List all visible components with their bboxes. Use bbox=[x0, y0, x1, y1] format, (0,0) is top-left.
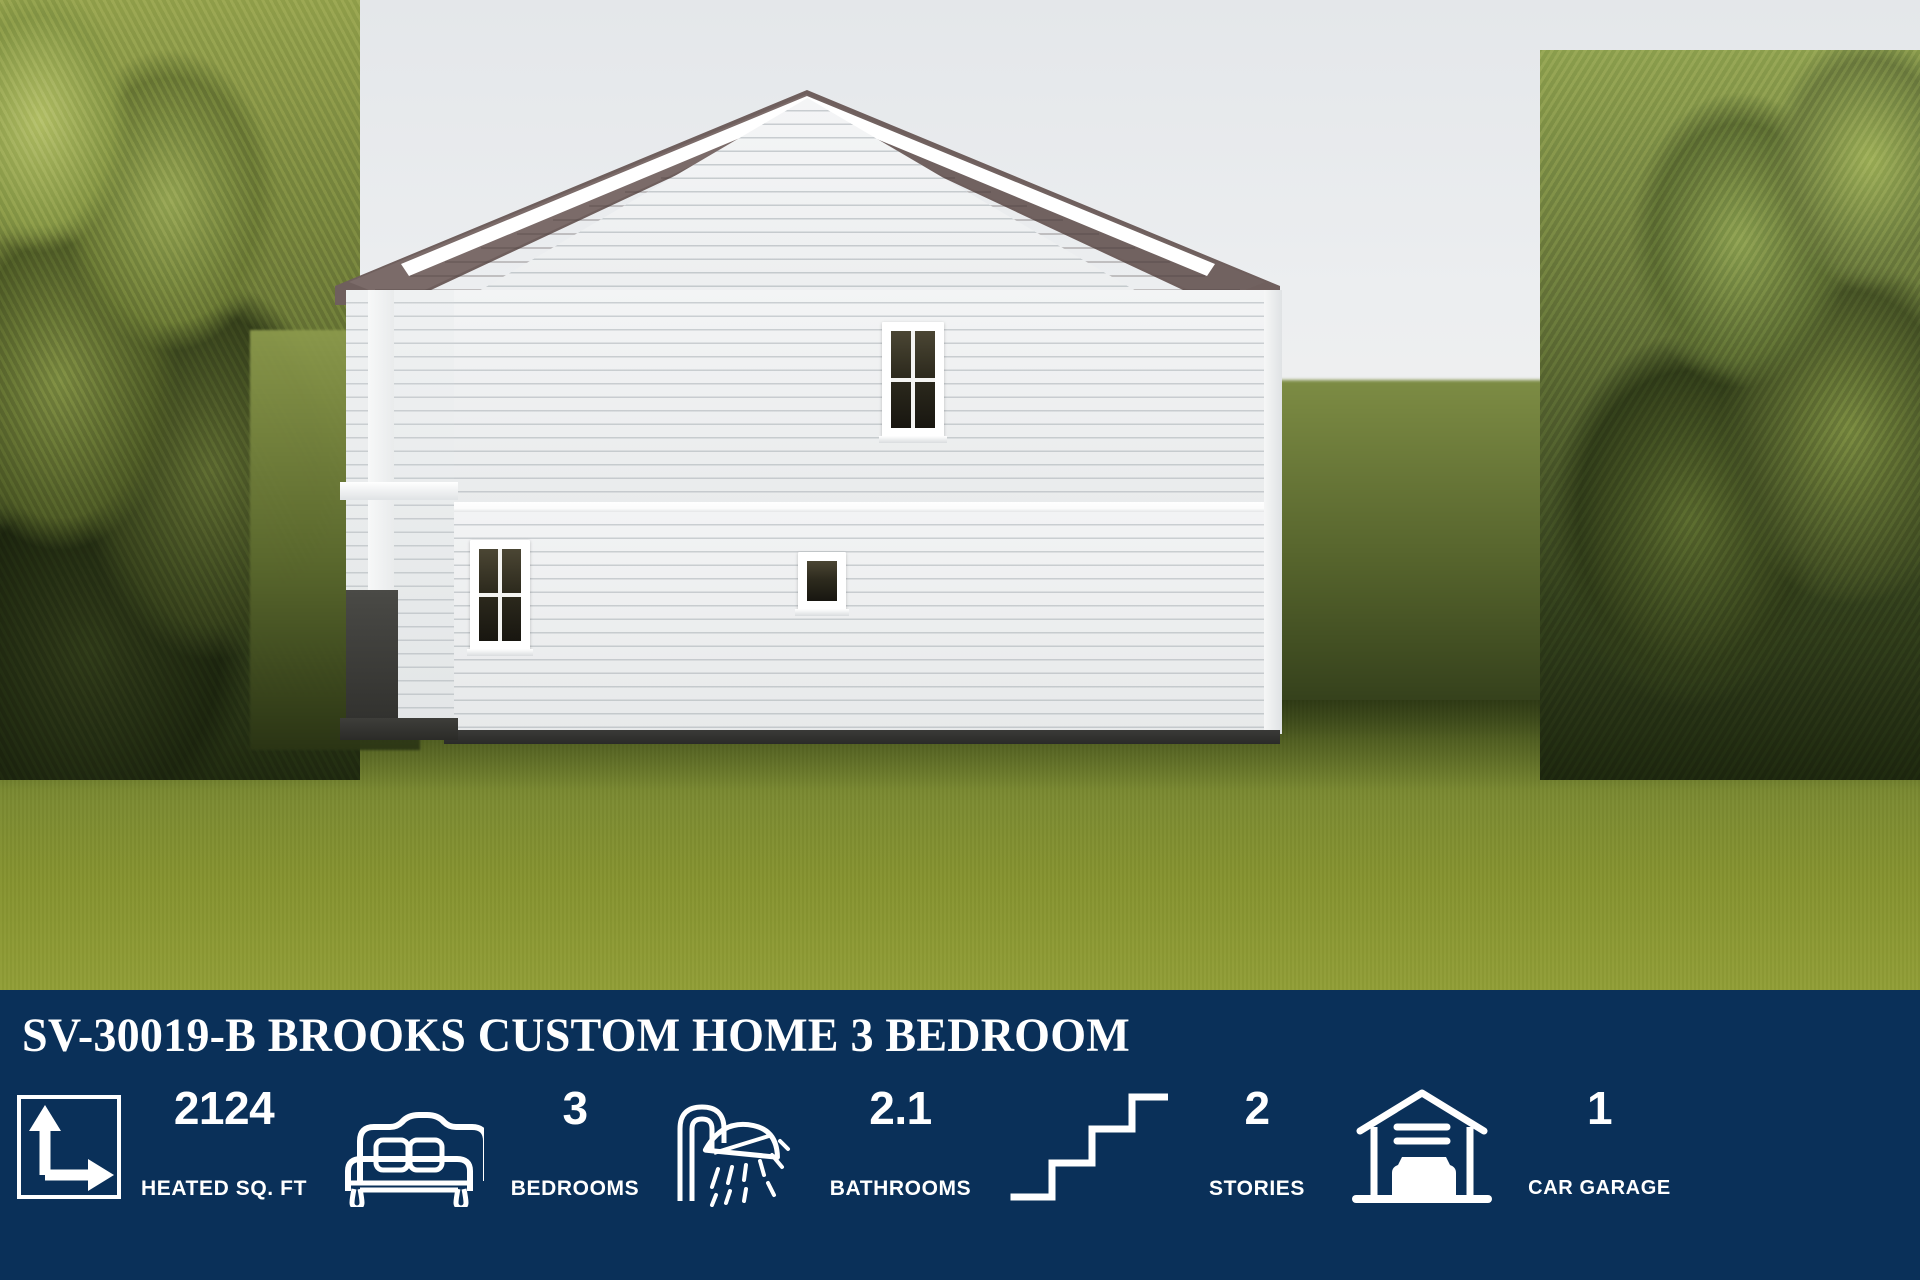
stat-value: 2.1 bbox=[869, 1085, 931, 1131]
stat-value: 1 bbox=[1587, 1085, 1612, 1131]
tree-right bbox=[1540, 50, 1920, 780]
stat-bathrooms-text: 2.1 BATHROOMS bbox=[793, 1085, 1008, 1201]
area-square-arrows-icon bbox=[14, 1085, 124, 1207]
lower-storey-wall bbox=[444, 512, 1280, 734]
stat-car-garage-text: 1 CAR GARAGE bbox=[1492, 1085, 1707, 1200]
stairs-icon bbox=[1008, 1085, 1168, 1207]
stat-heated-sqft: 2124 HEATED SQ. FT bbox=[14, 1085, 324, 1207]
shower-icon bbox=[668, 1085, 793, 1207]
left-wing-recess-shadow bbox=[346, 590, 398, 735]
stat-label: BATHROOMS bbox=[830, 1177, 972, 1201]
left-wing-eave bbox=[340, 482, 458, 500]
bed-icon bbox=[334, 1085, 484, 1207]
small-square-window bbox=[798, 552, 846, 610]
property-photo bbox=[0, 0, 1920, 990]
info-banner: SV-30019-B BROOKS CUSTOM HOME 3 BEDROOM … bbox=[0, 990, 1920, 1280]
stat-bathrooms: 2.1 BATHROOMS bbox=[668, 1085, 1008, 1207]
foundation bbox=[444, 730, 1280, 744]
listing-card: SV-30019-B BROOKS CUSTOM HOME 3 BEDROOM … bbox=[0, 0, 1920, 1280]
stat-value: 2 bbox=[1244, 1085, 1269, 1131]
stat-bedrooms: 3 BEDROOMS bbox=[334, 1085, 666, 1207]
corner-trim-right bbox=[1264, 290, 1282, 734]
upper-storey-wall bbox=[448, 290, 1278, 505]
stat-bedrooms-text: 3 BEDROOMS bbox=[484, 1085, 666, 1201]
stat-car-garage: 1 CAR GARAGE bbox=[1352, 1085, 1707, 1207]
page-title: SV-30019-B BROOKS CUSTOM HOME 3 BEDROOM bbox=[22, 1008, 1130, 1063]
stat-label: BEDROOMS bbox=[511, 1177, 639, 1201]
upper-window bbox=[882, 322, 944, 437]
garage-icon bbox=[1352, 1085, 1492, 1207]
house bbox=[340, 90, 1270, 730]
stat-label: STORIES bbox=[1209, 1177, 1305, 1201]
left-wing-foundation bbox=[340, 718, 458, 740]
stat-stories: 2 STORIES bbox=[1008, 1085, 1346, 1207]
stat-stories-text: 2 STORIES bbox=[1168, 1085, 1346, 1201]
stat-heated-sqft-text: 2124 HEATED SQ. FT bbox=[124, 1085, 324, 1201]
stats-row: 2124 HEATED SQ. FT bbox=[0, 1085, 1920, 1275]
left-wing-board-trim bbox=[368, 290, 394, 590]
stat-value: 2124 bbox=[174, 1085, 274, 1131]
stat-label: HEATED SQ. FT bbox=[141, 1177, 307, 1201]
lower-left-window bbox=[470, 540, 530, 650]
stat-value: 3 bbox=[562, 1085, 587, 1131]
stat-label: CAR GARAGE bbox=[1528, 1177, 1671, 1200]
